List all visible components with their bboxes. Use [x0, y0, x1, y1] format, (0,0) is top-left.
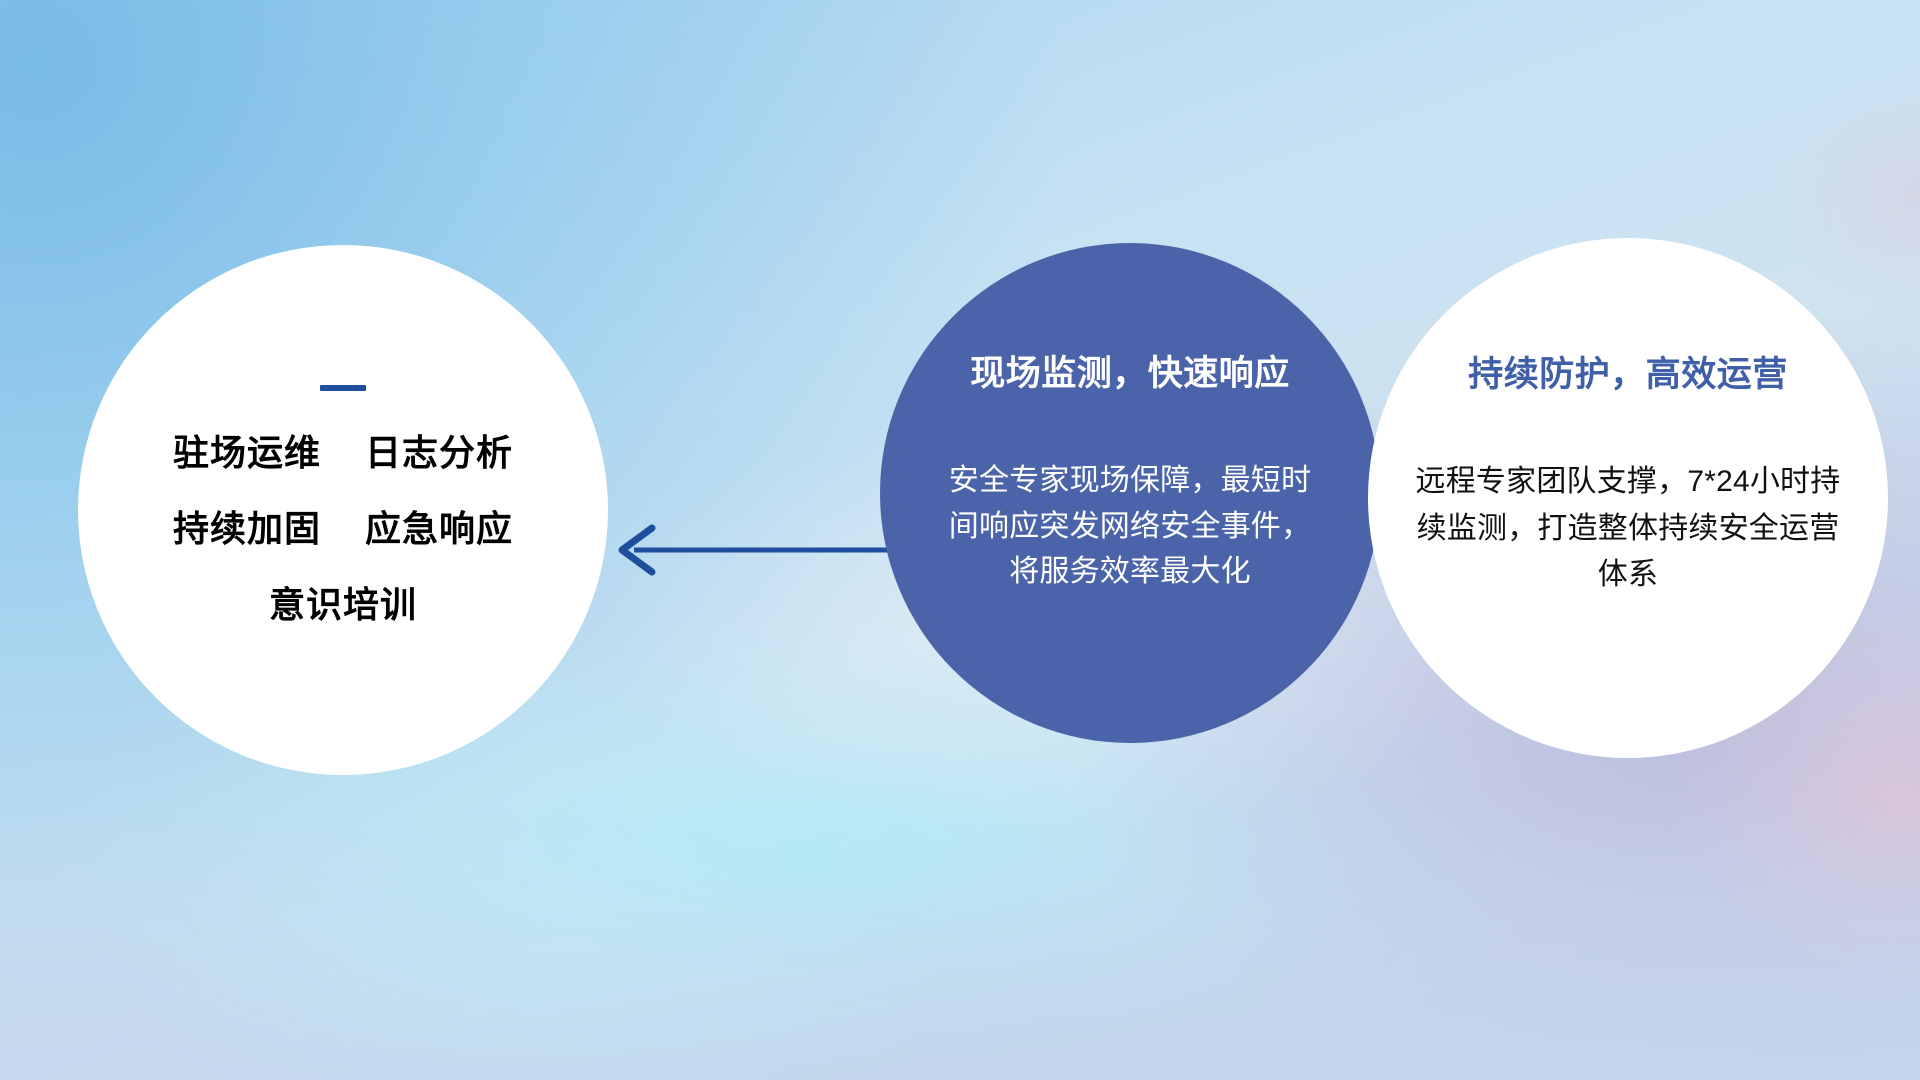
- capability-list-circle[interactable]: 驻场运维 日志分析 持续加固 应急响应 意识培训: [78, 245, 608, 775]
- capability-line-3: 意识培训: [269, 587, 417, 623]
- divider-dash-icon: [320, 385, 366, 391]
- arrow-left-icon: [600, 515, 900, 585]
- continuous-protection-circle[interactable]: 持续防护，高效运营 远程专家团队支撑，7*24小时持续监测，打造整体持续安全运营…: [1368, 238, 1888, 758]
- slide-canvas: 驻场运维 日志分析 持续加固 应急响应 意识培训 现场监测，快速响应 安全专家现…: [0, 0, 1920, 1080]
- capability-line-2: 持续加固 应急响应: [173, 511, 513, 547]
- onsite-monitoring-circle[interactable]: 现场监测，快速响应 安全专家现场保障，最短时间响应突发网络安全事件，将服务效率最…: [880, 243, 1380, 743]
- capability-line-1: 驻场运维 日志分析: [173, 435, 513, 471]
- onsite-monitoring-title: 现场监测，快速响应: [970, 345, 1290, 396]
- onsite-monitoring-body: 安全专家现场保障，最短时间响应突发网络安全事件，将服务效率最大化: [944, 458, 1316, 595]
- continuous-protection-title: 持续防护，高效运营: [1468, 346, 1788, 397]
- continuous-protection-body: 远程专家团队支撑，7*24小时持续监测，打造整体持续安全运营体系: [1413, 459, 1843, 599]
